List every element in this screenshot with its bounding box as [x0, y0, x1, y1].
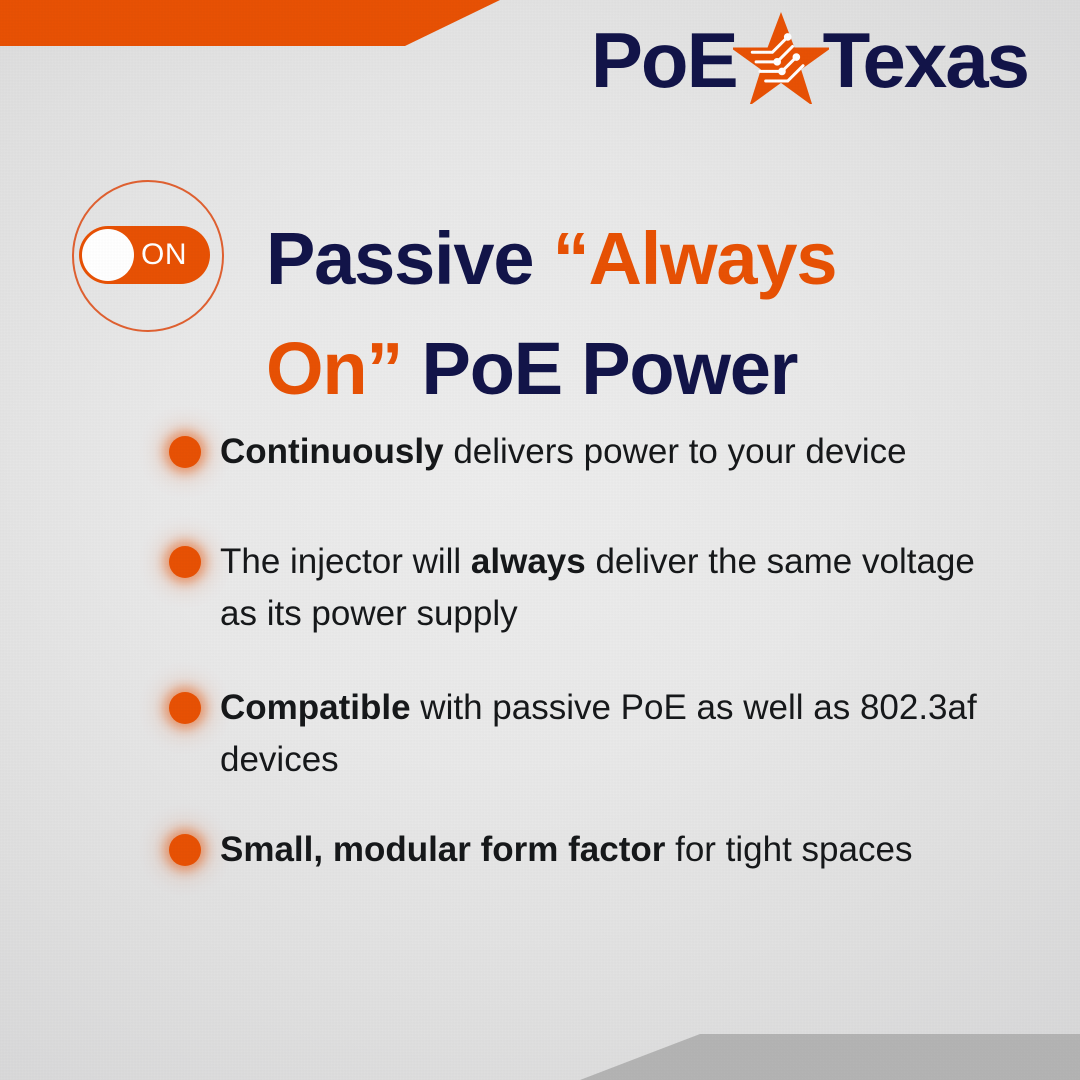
list-item-emphasis: Continuously — [220, 432, 444, 471]
bullet-dot-icon — [160, 822, 220, 882]
toggle-state-label: ON — [141, 226, 187, 284]
toggle-switch-track[interactable]: ON — [79, 226, 210, 284]
headline-segment-passive: Passive — [266, 217, 553, 300]
list-item-text: The injector will always deliver the sam… — [220, 534, 1020, 640]
list-item: Small, modular form factor for tight spa… — [160, 822, 1040, 882]
headline-segment-on: On” — [266, 327, 402, 410]
list-item-text: Continuously delivers power to your devi… — [220, 424, 907, 478]
bullet-dot-icon — [160, 680, 220, 740]
page-title: Passive “Always On” PoE Power — [266, 204, 1056, 424]
logo-text-texas: Texas — [823, 21, 1028, 99]
list-item-emphasis: Compatible — [220, 688, 411, 727]
headline-segment-always: “Always — [553, 217, 837, 300]
list-item: The injector will always deliver the sam… — [160, 534, 1040, 640]
top-orange-angled-banner — [0, 0, 500, 46]
brand-logo: PoE Texas — [591, 14, 1028, 106]
list-item-pre: The injector will — [220, 542, 471, 581]
list-item: Compatible with passive PoE as well as 8… — [160, 680, 1040, 786]
bottom-gray-angled-bar — [580, 1034, 1080, 1080]
bullet-dot-icon — [160, 424, 220, 484]
list-item-rest: for tight spaces — [665, 830, 912, 869]
list-item-text: Small, modular form factor for tight spa… — [220, 822, 912, 876]
list-item: Continuously delivers power to your devi… — [160, 424, 1040, 484]
list-item-emphasis: Small, modular form factor — [220, 830, 665, 869]
list-item-text: Compatible with passive PoE as well as 8… — [220, 680, 1020, 786]
star-circuit-icon — [733, 12, 829, 104]
headline-segment-poe-power: PoE Power — [402, 327, 797, 410]
bullet-dot-icon — [160, 534, 220, 594]
headline-line-1: Passive “Always — [266, 204, 1056, 314]
headline-line-2: On” PoE Power — [266, 314, 1056, 424]
list-item-emphasis: always — [471, 542, 586, 581]
always-on-toggle[interactable]: ON — [72, 189, 224, 323]
toggle-knob-icon[interactable] — [82, 229, 134, 281]
list-item-rest: delivers power to your device — [444, 432, 907, 471]
feature-list: Continuously delivers power to your devi… — [160, 424, 1040, 882]
logo-text-poe: PoE — [591, 21, 737, 99]
poster-canvas: PoE Texas — [0, 0, 1080, 1080]
